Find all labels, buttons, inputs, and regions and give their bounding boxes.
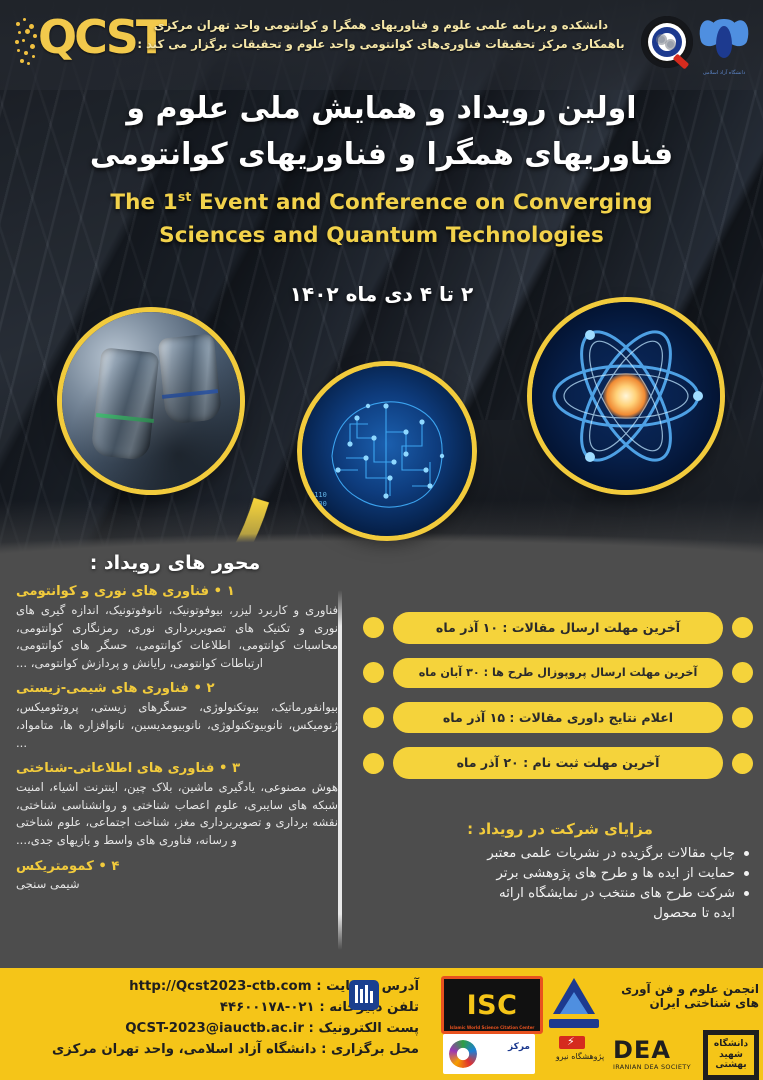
email-line: پست الکترونیک : QCST-2023@iauctb.ac.ir (0, 1018, 419, 1039)
book-icon (349, 980, 379, 1010)
header-logos: دانشگاه آزاد اسلامی (635, 8, 755, 88)
topic-number: ۴ (111, 859, 119, 874)
bullet-icon (744, 851, 749, 856)
sponsor-logos: ISC Islamic World Science Citation Cente… (431, 968, 763, 1080)
dea-mark: DEA (613, 1038, 695, 1062)
lightning-bolt-icon (559, 1036, 585, 1049)
cognitive-society-logo (543, 974, 605, 1034)
phone-value: ۰۲۱-۴۴۶۰۰۱۷۸ (220, 1000, 315, 1015)
bullet-dot-icon (732, 753, 753, 774)
deadlines-section: آخرین مهلت ارسال مقالات : ۱۰ آذر ماه آخر… (363, 612, 753, 793)
organizer-line-1: دانشکده و برنامه علمی علوم و فناوریهای ه… (131, 16, 631, 35)
benefit-item: چاپ مقالات برگزیده در نشریات علمی معتبر (369, 844, 751, 864)
english-title-prefix: The 1 (110, 190, 178, 215)
topic-label: کمومتریکس (16, 859, 94, 874)
venue-value: دانشگاه آزاد اسلامی، واحد تهران مرکزی (52, 1042, 316, 1057)
organizer-line-2: باهمکاری مرکز تحقیقات فناوری‌های کوانتوم… (131, 35, 631, 54)
bullet-dot-icon (363, 617, 384, 638)
topic-body: بیوانفورماتیک، بیوتکنولوژی، حسگرهای زیست… (16, 699, 338, 752)
dea-society-logo: DEA IRANIAN DEA SOCIETY (613, 1038, 695, 1076)
deadline-row: آخرین مهلت ارسال مقالات : ۱۰ آذر ماه (363, 612, 753, 644)
islamic-azad-university-logo: دانشگاه آزاد اسلامی (699, 14, 749, 76)
benefit-item: شرکت طرح های منتخب در نمایشگاه ارائه (369, 884, 751, 904)
scientific-center-script: مرکز (508, 1042, 530, 1052)
logo-base-icon (549, 1019, 599, 1028)
bullet-dot-icon (732, 617, 753, 638)
deadline-pill: آخرین مهلت ارسال مقالات : ۱۰ آذر ماه (393, 612, 723, 644)
topic-number: ۲ (207, 681, 215, 696)
topics-heading: محور های رویداد : (10, 552, 340, 574)
atom-nucleus (603, 373, 649, 419)
benefit-continuation: ایده تا محصول (369, 904, 751, 924)
email-label: پست الکترونیک : (309, 1021, 419, 1036)
nirou-label: پژوهشگاه نیرو (551, 1052, 609, 1061)
shahid-beheshti-university-logo: دانشگاه شهید بهشتی (703, 1030, 759, 1080)
deadline-row: آخرین مهلت ارسال پروپوزال طرح ها : ۳۰ آب… (363, 658, 753, 688)
topic-title: ۴ • کمومتریکس (16, 859, 340, 874)
email-value[interactable]: QCST-2023@iauctb.ac.ir (125, 1018, 304, 1039)
organizer-text: دانشکده و برنامه علمی علوم و فناوریهای ه… (131, 16, 631, 54)
sbu-label: دانشگاه شهید بهشتی (708, 1035, 754, 1075)
inner-triangle-icon (560, 992, 588, 1014)
iau-logo-caption: دانشگاه آزاد اسلامی (699, 70, 749, 76)
english-title-rest: Event and Conference on Converging (199, 190, 653, 215)
deadline-pill: آخرین مهلت ارسال پروپوزال طرح ها : ۳۰ آب… (393, 658, 723, 688)
topic-body: هوش مصنوعی، یادگیری ماشین، بلاک چین، این… (16, 779, 338, 849)
poster-footer: ISC Islamic World Science Citation Cente… (0, 968, 763, 1080)
isc-logo-caption: Islamic World Science Citation Center (444, 1025, 540, 1030)
vertical-divider (338, 590, 342, 950)
bullet-icon (744, 871, 749, 876)
binary-digits: 0110010010011001 (310, 491, 327, 526)
atom-image (532, 302, 720, 490)
benefits-heading: مزایای شرکت در رویداد : (369, 820, 751, 838)
venue-label: محل برگزاری : (321, 1042, 419, 1057)
bullet-icon (744, 891, 749, 896)
topic-label: فناوری های اطلاعاتی-شناختی (16, 761, 214, 776)
bullet-dot-icon (363, 753, 384, 774)
website-value[interactable]: http://Qcst2023-ctb.com (129, 976, 311, 997)
topic-label: فناوری های شیمی-زیستی (16, 681, 189, 696)
topic-item: ۲ • فناوری های شیمی-زیستی بیوانفورماتیک،… (10, 681, 340, 752)
deadline-row: اعلام نتایج داوری مقالات : ۱۵ آذر ماه (363, 702, 753, 734)
english-title-line-1: The 1st Event and Conference on Convergi… (0, 186, 763, 219)
topic-title: ۳ • فناوری های اطلاعاتی-شناختی (16, 761, 340, 776)
english-title-line-2: Sciences and Quantum Technologies (0, 219, 763, 252)
bullet-dot-icon (732, 662, 753, 683)
bullet-dot-icon (732, 707, 753, 728)
deadline-pill: اعلام نتایج داوری مقالات : ۱۵ آذر ماه (393, 702, 723, 734)
benefits-section: مزایای شرکت در رویداد : چاپ مقالات برگزی… (369, 820, 751, 924)
persian-title-line-1: اولین رویداد و همایش ملی علوم و (0, 86, 763, 132)
topic-body: شیمی سنجی (16, 877, 334, 891)
isc-logo-text: ISC (467, 990, 518, 1021)
poster-header: QCST دانشکده و برنامه علمی علوم و فناوری… (0, 0, 763, 86)
circuit-brain-image: 0110010010011001 (302, 366, 472, 536)
topic-title: ۱ • فناوری های نوری و کوانتومی (16, 584, 340, 599)
bullet-dot-icon (363, 707, 384, 728)
bullet-dot-icon (363, 662, 384, 683)
topic-number: ۳ (232, 761, 240, 776)
conference-poster: QCST دانشکده و برنامه علمی علوم و فناوری… (0, 0, 763, 1080)
quantum-center-logo (641, 16, 693, 68)
benefit-item: حمایت از ایده ها و طرح های پژوهشی برتر (369, 864, 751, 884)
deadline-pill: آخرین مهلت ثبت نام : ۲۰ آذر ماه (393, 747, 723, 779)
topic-label: فناوری های نوری و کوانتومی (16, 584, 209, 599)
benefit-label: چاپ مقالات برگزیده در نشریات علمی معتبر (487, 846, 735, 861)
topics-section: محور های رویداد : ۱ • فناوری های نوری و … (10, 552, 340, 891)
ordinal-suffix: st (178, 189, 192, 204)
english-title: The 1st Event and Conference on Convergi… (0, 186, 763, 253)
qcst-logo: QCST (14, 10, 139, 74)
deadline-row: آخرین مهلت ثبت نام : ۲۰ آذر ماه (363, 747, 753, 779)
topic-body: فناوری و کاربرد لیزر، بیوفوتونیک، نانوفو… (16, 602, 338, 672)
event-date: ۲ تا ۴ دی ماه ۱۴۰۲ (0, 282, 763, 306)
topic-number: ۱ (227, 584, 235, 599)
topic-item: ۴ • کمومتریکس شیمی سنجی (10, 859, 340, 891)
topic-title: ۲ • فناوری های شیمی-زیستی (16, 681, 340, 696)
venue-line: محل برگزاری : دانشگاه آزاد اسلامی، واحد … (0, 1039, 419, 1060)
isc-logo: ISC Islamic World Science Citation Cente… (441, 976, 543, 1034)
topic-item: ۱ • فناوری های نوری و کوانتومی فناوری و … (10, 584, 340, 672)
benefit-label: حمایت از ایده ها و طرح های پژوهشی برتر (496, 866, 735, 881)
nirou-research-logo: پژوهشگاه نیرو (551, 1036, 609, 1078)
topic-item: ۳ • فناوری های اطلاعاتی-شناختی هوش مصنوع… (10, 761, 340, 849)
microscope-image (62, 312, 240, 490)
cognitive-society-label: انجمن علوم و فن آوری های شناختی ایران (609, 982, 759, 1010)
dea-caption: IRANIAN DEA SOCIETY (613, 1063, 695, 1071)
persian-title: اولین رویداد و همایش ملی علوم و فناوریها… (0, 86, 763, 177)
persian-title-line-2: فناوریهای همگرا و فناوریهای کوانتومی (0, 132, 763, 178)
benefit-label: شرکت طرح های منتخب در نمایشگاه ارائه (499, 886, 735, 901)
color-ring-icon (449, 1040, 477, 1068)
scientific-center-logo: مرکز (443, 1034, 535, 1074)
